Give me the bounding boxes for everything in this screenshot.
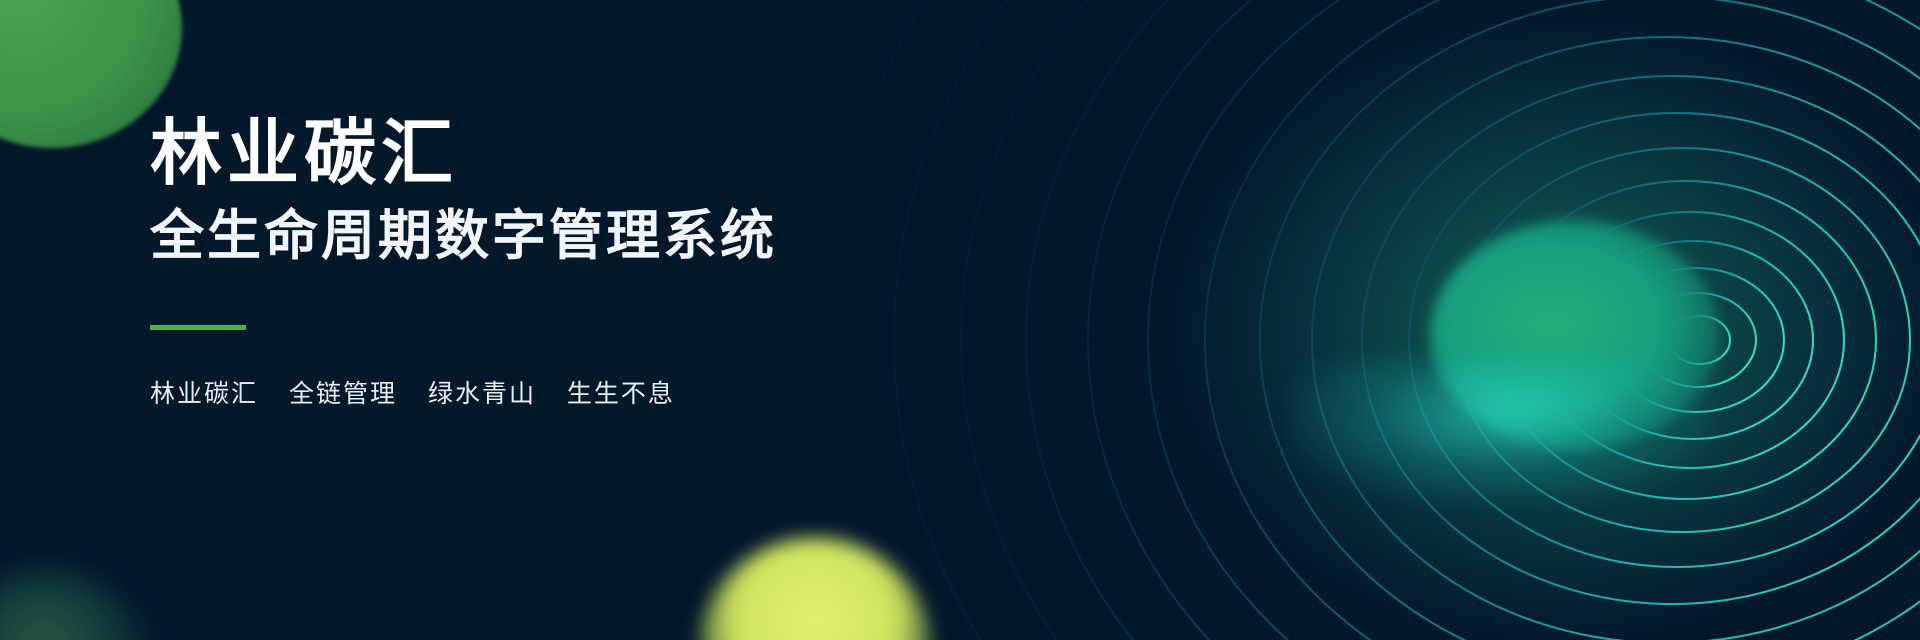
hero-content: 林业碳汇 全生命周期数字管理系统 林业碳汇 全链管理 绿水青山 生生不息 (150, 118, 1010, 410)
accent-divider (150, 325, 246, 330)
page-subtitle: 全生命周期数字管理系统 (150, 208, 1010, 265)
tagline-part-2: 全链管理 (289, 380, 397, 408)
tagline-part-4: 生生不息 (567, 380, 675, 408)
tagline-part-3: 绿水青山 (428, 380, 536, 408)
page-title: 林业碳汇 (150, 118, 1010, 190)
tagline: 林业碳汇 全链管理 绿水青山 生生不息 (150, 374, 1010, 410)
tagline-part-1: 林业碳汇 (150, 380, 258, 408)
hero-banner: 林业碳汇 全生命周期数字管理系统 林业碳汇 全链管理 绿水青山 生生不息 (0, 0, 1920, 640)
cyan-arc-glow-decoration (1290, 360, 1710, 500)
